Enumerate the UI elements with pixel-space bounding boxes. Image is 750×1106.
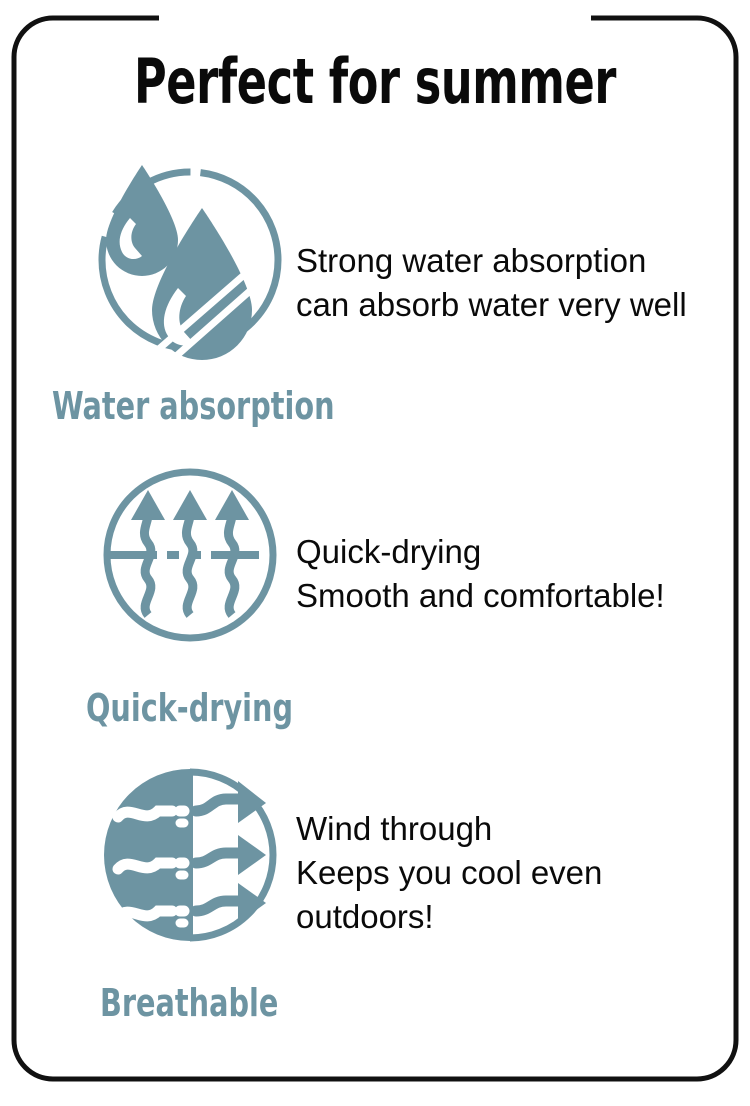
- small-drop: [106, 165, 178, 276]
- feature-description: Strong water absorption can absorb water…: [296, 239, 741, 327]
- feature-label-quick-drying: Quick-drying: [86, 686, 293, 730]
- feature-label-water-absorption: Water absorption: [52, 384, 335, 428]
- feature-description: Wind through Keeps you cool even outdoor…: [296, 807, 741, 939]
- quick-drying-arrows-icon: [100, 465, 280, 645]
- breathable-wind-icon: [100, 765, 280, 945]
- wavy-arrow-shafts: [144, 515, 234, 615]
- feature-label-breathable: Breathable: [100, 981, 278, 1025]
- page-title: Perfect for summer: [75, 48, 675, 116]
- feature-description: Quick-drying Smooth and comfortable!: [296, 530, 741, 618]
- water-drops-icon: [90, 160, 290, 360]
- wavy-arrow-heads: [131, 490, 249, 520]
